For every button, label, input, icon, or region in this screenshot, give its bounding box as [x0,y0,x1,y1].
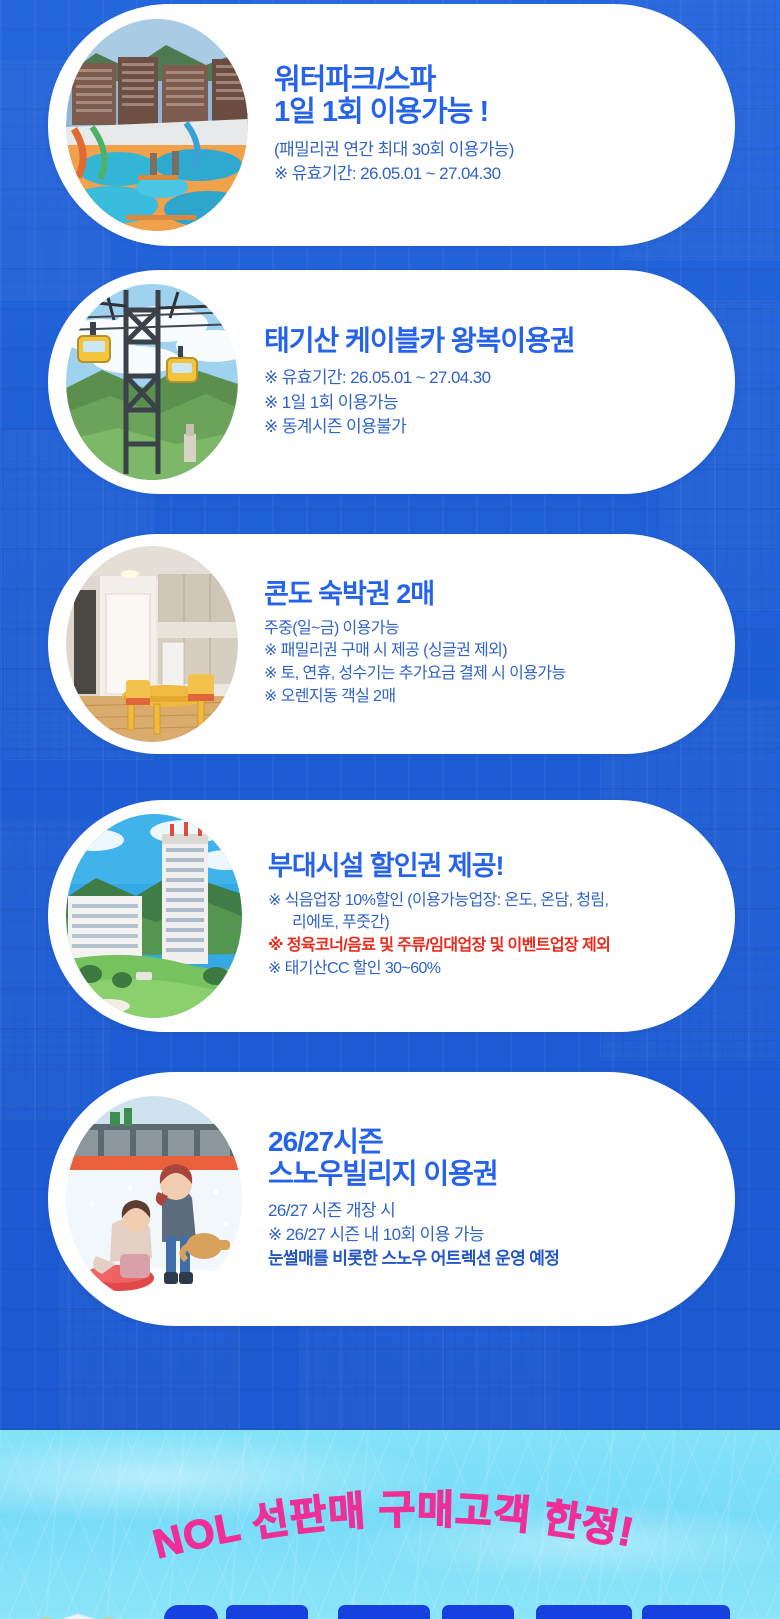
benefit-title: 태기산 케이블카 왕복이용권 [264,325,575,356]
benefit-detail-line: ※ 유효기간: 26.05.01 ~ 27.04.30 [264,366,575,390]
condo-room-photo [66,546,238,742]
benefit-title: 26/27시즌 스노우빌리지 이용권 [268,1126,559,1189]
benefit-detail-line: ※ 태기산CC 할인 30~60% [268,958,610,981]
benefit-detail-line: ※ 오렌지동 객실 2매 [264,686,566,709]
benefit-card-waterpark[interactable]: 워터파크/스파 1일 1회 이용가능 ! (패밀리권 연간 최대 30회 이용가… [48,4,735,246]
benefit-card-snowvillage[interactable]: 26/27시즌 스노우빌리지 이용권 26/27 시즌 개장 시 ※ 26/27… [48,1072,735,1326]
benefit-card-body: 콘도 숙박권 2매 주중(일~금) 이용가능 ※ 패밀리권 구매 시 제공 (싱… [238,579,584,708]
benefit-detail-line: ※ 패밀리권 구매 시 제공 (싱글권 제외) [264,640,566,663]
promo-headline-arc: NOL 선판매 구매고객 한정! [0,1444,780,1594]
benefit-detail-line: (패밀리권 연간 최대 30회 이용가능) [274,138,514,162]
cutoff-text-row [0,1605,780,1619]
benefit-card-facilities[interactable]: 부대시설 할인권 제공! ※ 식음업장 10%할인 (이용가능업장: 온도, 온… [48,800,735,1032]
benefit-card-condo[interactable]: 콘도 숙박권 2매 주중(일~금) 이용가능 ※ 패밀리권 구매 시 제공 (싱… [48,534,735,754]
benefit-title: 워터파크/스파 1일 1회 이용가능 ! [274,64,514,129]
benefit-detail-line: ※ 식음업장 10%할인 (이용가능업장: 온도, 온담, 청림, [268,890,610,913]
benefit-detail-line: 주중(일~금) 이용가능 [264,618,566,641]
waterpark-photo [66,19,248,231]
benefit-detail-line-highlight: 눈썰매를 비롯한 스노우 어트렉션 운영 예정 [268,1247,559,1271]
benefit-card-body: 부대시설 할인권 제공! ※ 식음업장 10%할인 (이용가능업장: 온도, 온… [242,851,628,980]
benefit-detail-line: ※ 26/27 시즌 내 10회 이용 가능 [268,1223,559,1247]
benefit-detail-line: 26/27 시즌 개장 시 [268,1199,559,1223]
benefit-detail-line: ※ 토, 연휴, 성수기는 추가요금 결제 시 이용가능 [264,663,566,686]
promo-banner-section: NOL 선판매 구매고객 한정! [0,1430,780,1619]
benefit-card-body: 태기산 케이블카 왕복이용권 ※ 유효기간: 26.05.01 ~ 27.04.… [238,325,593,439]
benefit-detail-line: ※ 동계시즌 이용불가 [264,415,575,439]
benefit-detail-line: 리에토, 푸줏간) [268,912,610,935]
benefit-detail-line: ※ 1일 1회 이용가능 [264,391,575,415]
benefit-card-body: 워터파크/스파 1일 1회 이용가능 ! (패밀리권 연간 최대 30회 이용가… [248,64,532,186]
benefit-detail-line-exclusion: ※ 정육코너/음료 및 주류/임대업장 및 이벤트업장 제외 [268,935,610,958]
promo-headline-text: NOL 선판매 구매고객 한정! [149,1488,638,1567]
benefit-title: 부대시설 할인권 제공! [268,851,610,881]
benefits-section: 워터파크/스파 1일 1회 이용가능 ! (패밀리권 연간 최대 30회 이용가… [0,0,780,1430]
benefit-title: 콘도 숙박권 2매 [264,579,566,609]
cablecar-photo [66,284,238,480]
benefit-detail-line: ※ 유효기간: 26.05.01 ~ 27.04.30 [274,162,514,186]
benefit-card-cablecar[interactable]: 태기산 케이블카 왕복이용권 ※ 유효기간: 26.05.01 ~ 27.04.… [48,270,735,494]
snow-village-photo [66,1096,242,1302]
benefit-card-body: 26/27시즌 스노우빌리지 이용권 26/27 시즌 개장 시 ※ 26/27… [242,1126,577,1271]
resort-hotel-photo [66,814,242,1018]
